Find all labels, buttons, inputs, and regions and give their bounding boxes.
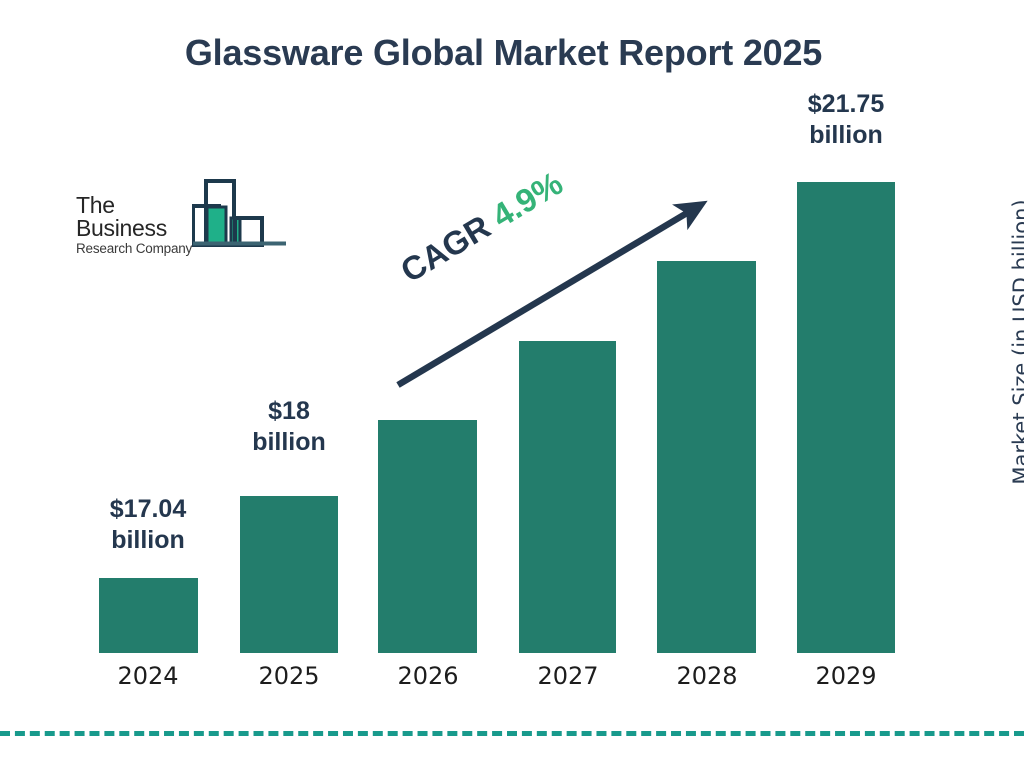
bar-value-unit-2029: billion	[809, 121, 883, 149]
brand-logo-line1: The Business	[76, 194, 211, 240]
footer-divider	[0, 731, 1024, 736]
x-tick-label-2024: 2024	[83, 662, 213, 690]
bar-value-label-2025: $18 billion	[219, 396, 359, 457]
bar-value-unit-2024: billion	[111, 526, 185, 554]
page-title: Glassware Global Market Report 2025	[0, 32, 1007, 74]
x-tick-label-2029: 2029	[781, 662, 911, 690]
brand-logo-bars-icon	[192, 178, 288, 252]
bar-2026	[378, 420, 477, 653]
brand-logo-line2: Research Company	[76, 242, 211, 256]
bar-value-amount-2024: $17.04	[110, 495, 186, 523]
x-tick-label-2028: 2028	[642, 662, 772, 690]
bar-value-amount-2029: $21.75	[808, 90, 884, 118]
x-tick-label-2027: 2027	[503, 662, 633, 690]
bar-value-label-2024: $17.04 billion	[78, 494, 218, 555]
bar-value-amount-2025: $18	[268, 397, 310, 425]
bar-2024	[99, 578, 198, 653]
bar-value-unit-2025: billion	[252, 428, 326, 456]
brand-logo-text: The Business Research Company	[76, 194, 211, 256]
bar-2025	[240, 496, 338, 653]
bar-2029	[797, 182, 895, 653]
x-tick-label-2026: 2026	[363, 662, 493, 690]
x-tick-label-2025: 2025	[224, 662, 354, 690]
y-axis-title: Market Size (in USD billion)	[1009, 172, 1024, 512]
chart-canvas: Glassware Global Market Report 2025 The …	[0, 0, 1024, 768]
cagr-trend-arrow-icon	[370, 185, 720, 405]
brand-logo: The Business Research Company	[74, 178, 286, 254]
bar-value-label-2029: $21.75 billion	[776, 89, 916, 150]
